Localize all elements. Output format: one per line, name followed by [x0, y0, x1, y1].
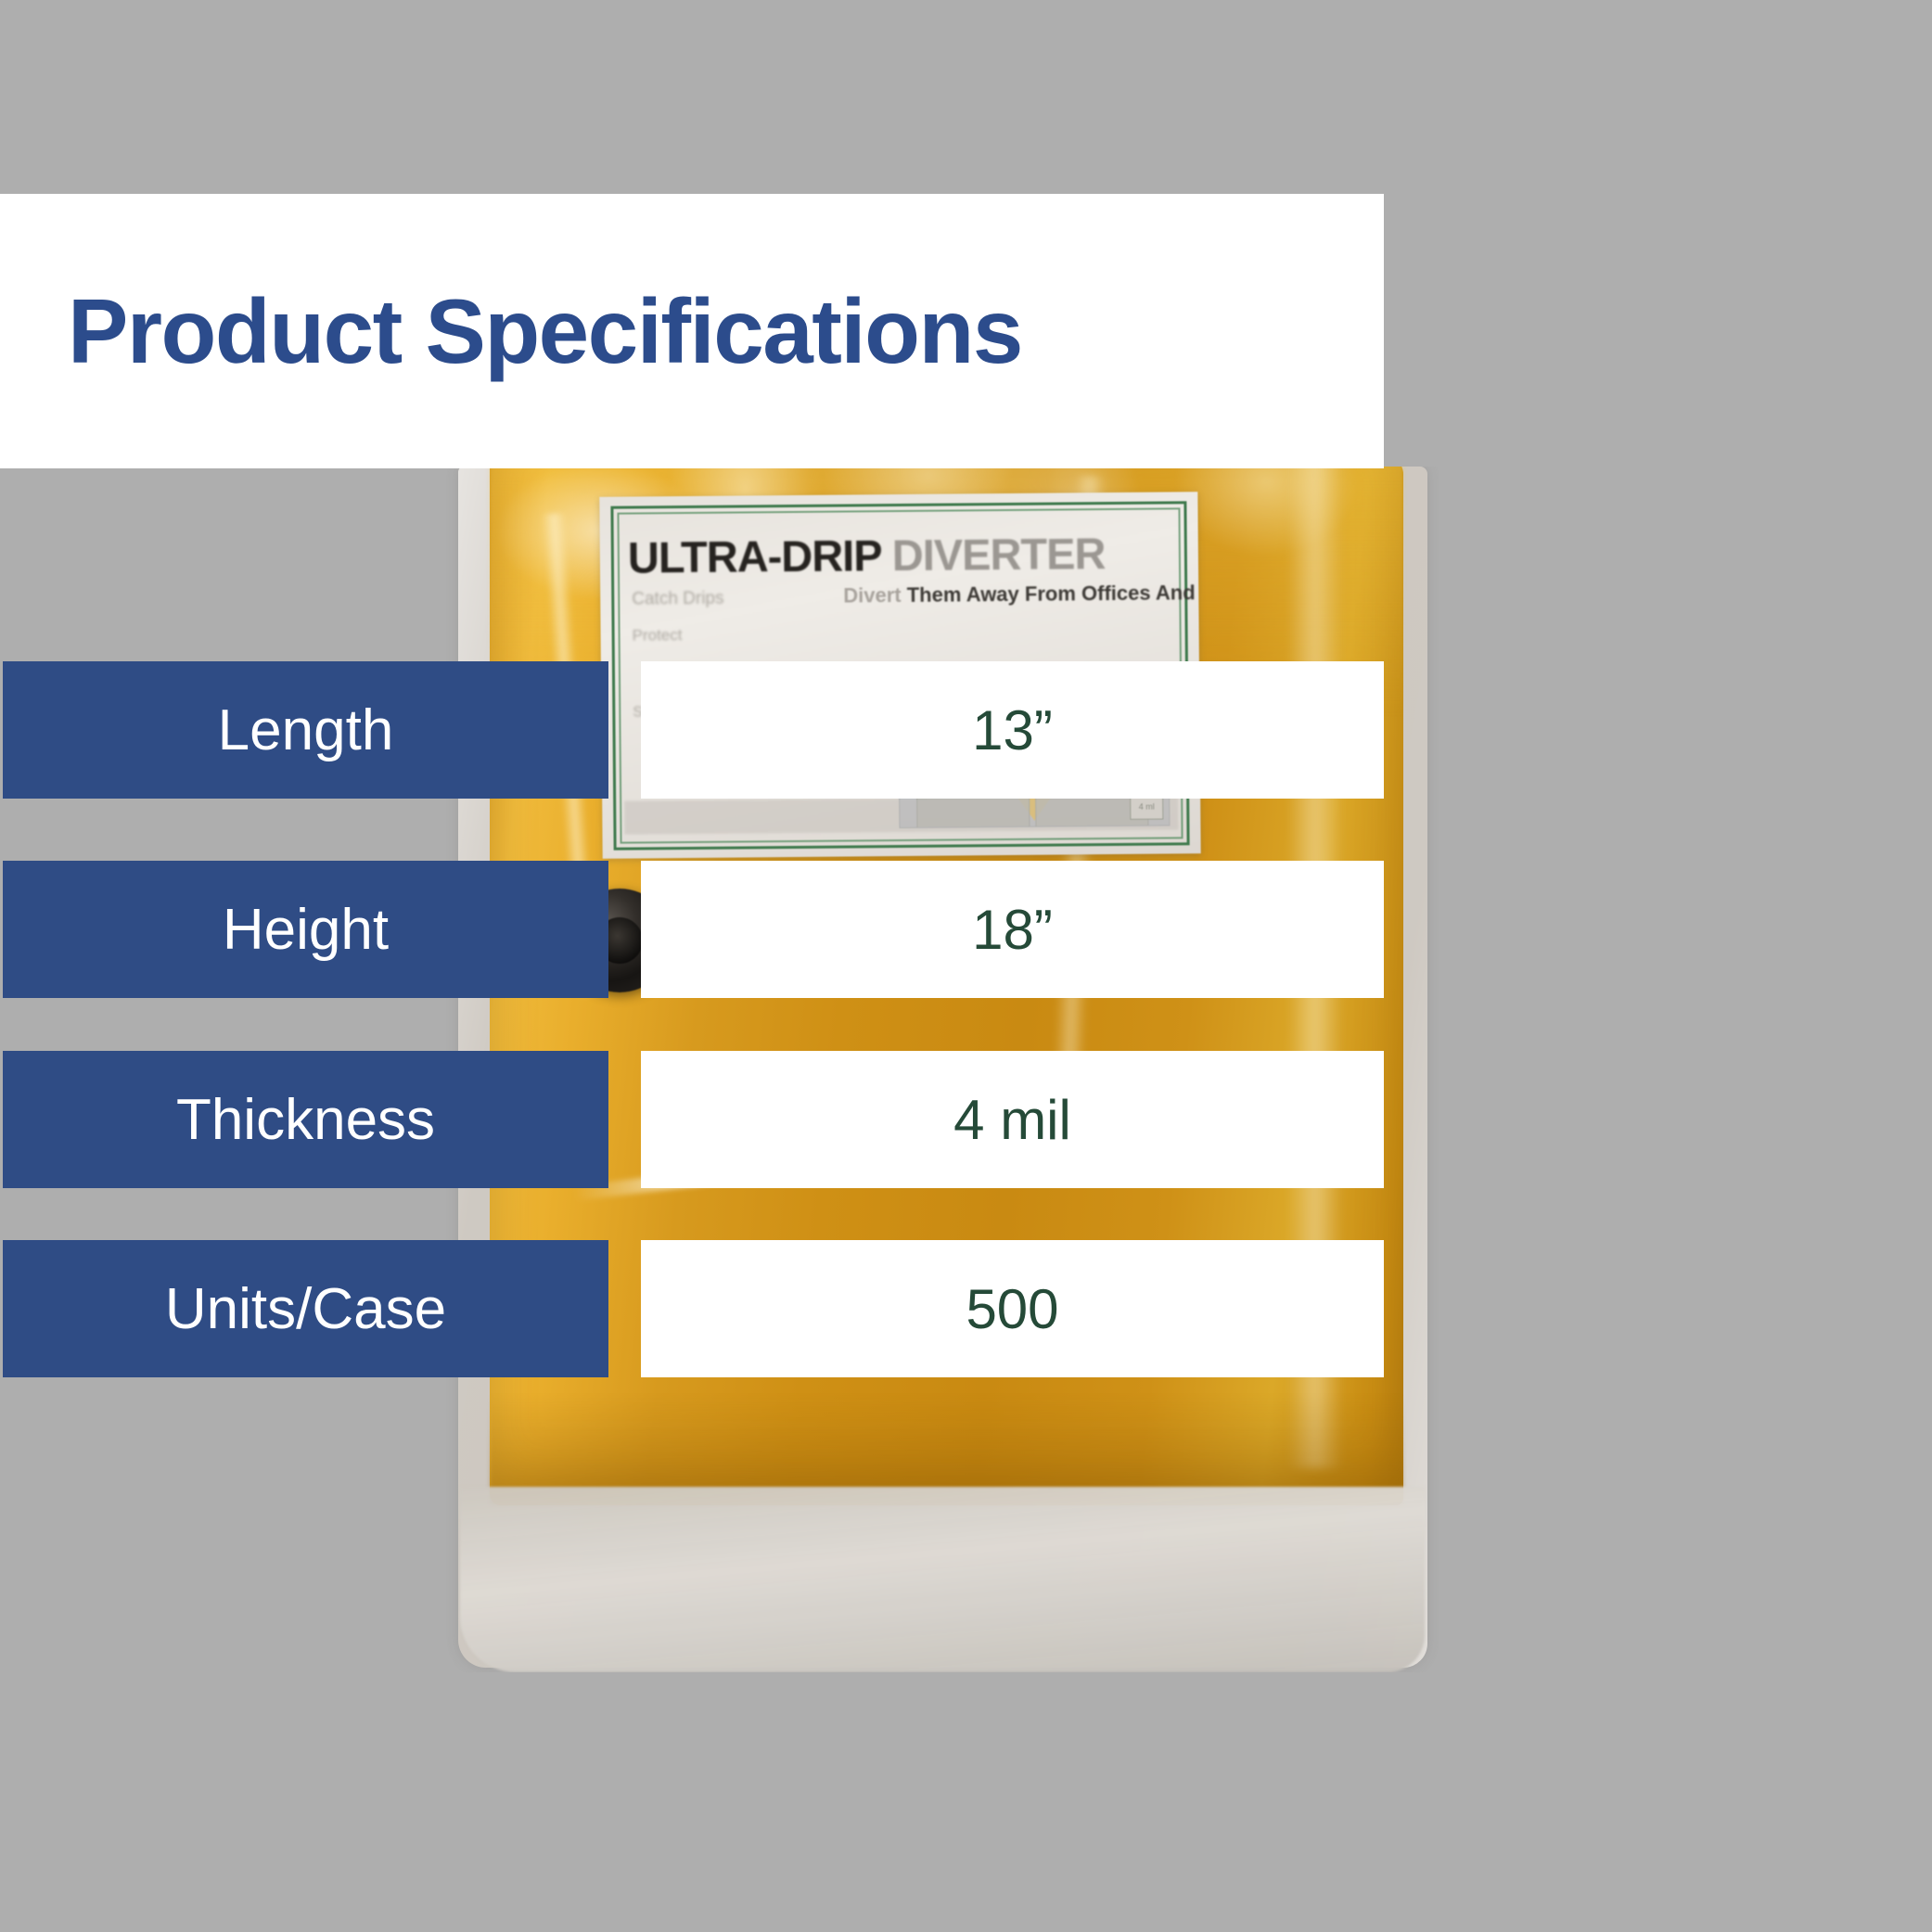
spec-value-thickness: 4 mil	[641, 1051, 1384, 1188]
spec-value-text: 18”	[972, 898, 1053, 962]
label-subtitle-primary: Divert	[843, 583, 907, 608]
label-title-primary: ULTRA-DRIP	[628, 531, 892, 582]
spec-label-height: Height	[3, 861, 608, 998]
spec-value-units-per-case: 500	[641, 1240, 1384, 1377]
spec-value-height: 18”	[641, 861, 1384, 998]
spec-label-length: Length	[3, 661, 608, 799]
label-title: ULTRA-DRIP DIVERTER	[628, 528, 1106, 582]
spec-value-length: 13”	[641, 661, 1384, 799]
spec-value-text: 4 mil	[953, 1088, 1071, 1152]
spec-label-text: Length	[218, 697, 394, 763]
bag-bottom-fold	[460, 1487, 1425, 1672]
spec-label-text: Units/Case	[165, 1276, 446, 1342]
label-subtitle-secondary: Them Away From Offices And	[907, 581, 1196, 607]
spec-row: Length 13”	[0, 661, 1384, 799]
spec-value-text: 13”	[972, 698, 1053, 762]
label-ghost-text: Protect	[633, 626, 683, 645]
spec-row: Thickness 4 mil	[0, 1051, 1384, 1188]
spec-label-units-per-case: Units/Case	[3, 1240, 608, 1377]
spec-row: Height 18”	[0, 861, 1384, 998]
page-title: Product Specifications	[68, 279, 1022, 384]
label-ghost-text: Catch Drips	[632, 589, 723, 610]
spec-label-text: Height	[223, 897, 389, 963]
spec-value-text: 500	[966, 1277, 1058, 1341]
title-banner: Product Specifications	[0, 194, 1384, 468]
label-title-secondary: DIVERTER	[892, 529, 1106, 580]
label-subtitle: Divert Them Away From Offices And	[843, 581, 1196, 608]
infographic-canvas: ULTRA-DRIP DIVERTER Divert Them Away Fro…	[0, 0, 1932, 1932]
label-bottom-strip	[624, 796, 1178, 834]
spec-label-thickness: Thickness	[3, 1051, 608, 1188]
spec-label-text: Thickness	[176, 1087, 435, 1153]
spec-row: Units/Case 500	[0, 1240, 1384, 1377]
